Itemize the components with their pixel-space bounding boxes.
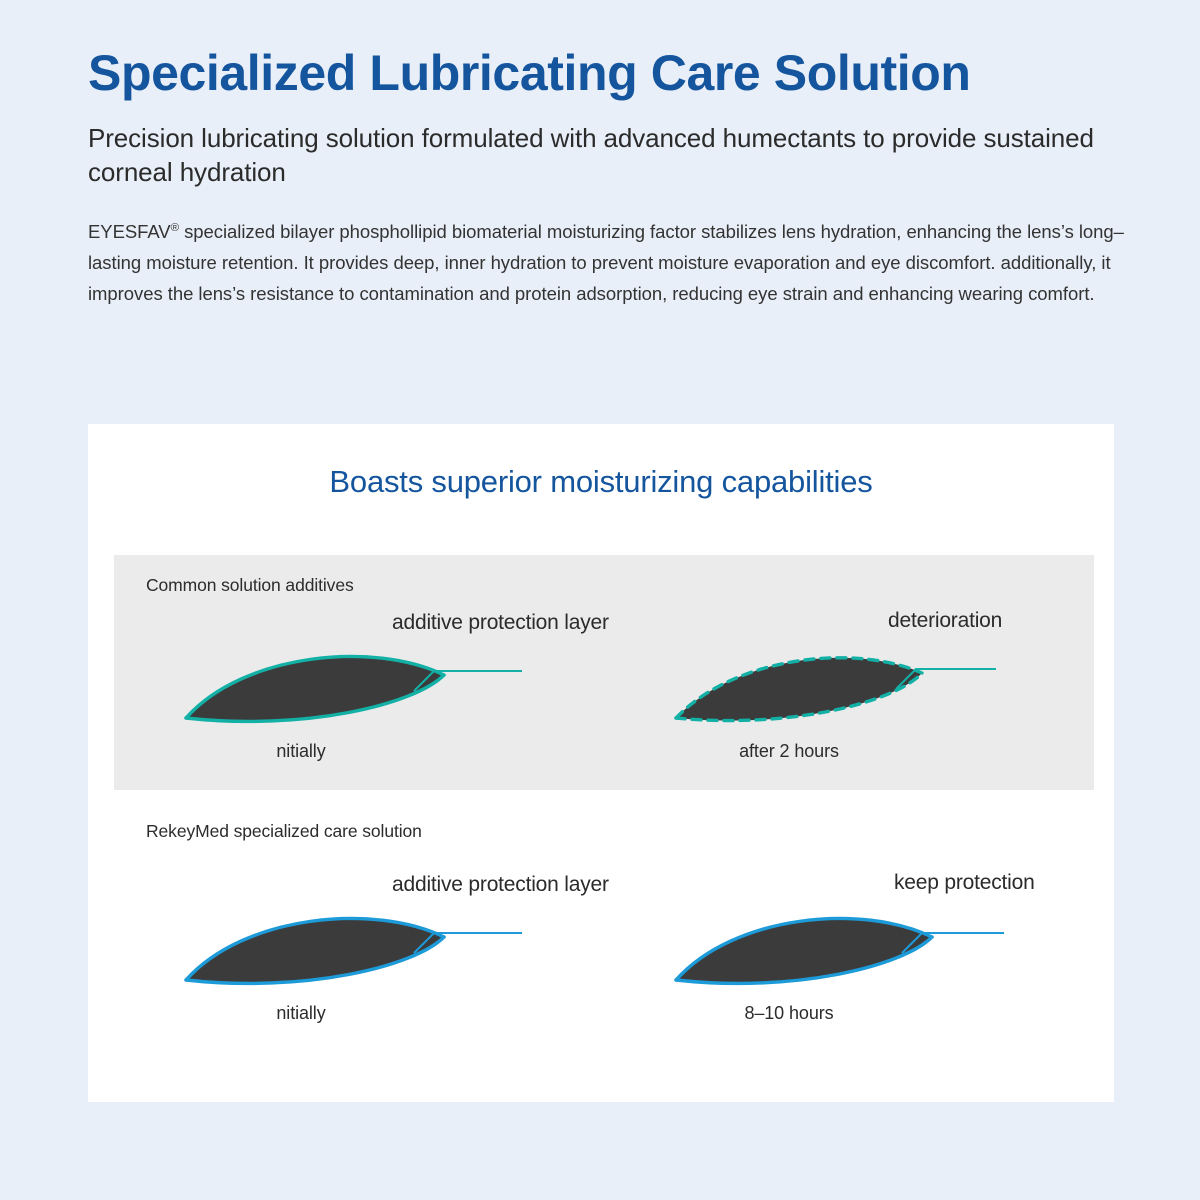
figure-caption-8-10-hours: 8–10 hours [544, 1003, 1034, 1024]
panel-label-rekeymed: RekeyMed specialized care solution [146, 821, 422, 842]
figure-rekeymed-sustained: keep protection 8–10 hours [604, 875, 1094, 1050]
figure-rekeymed-initial: additive protection layer nitially [114, 875, 604, 1050]
panel-common-additives: Common solution additives additive prote… [114, 555, 1094, 790]
figure-common-initial: additive protection layer nitially [114, 613, 604, 788]
figure-caption-initial: nitially [56, 741, 546, 762]
card-heading: Boasts superior moisturizing capabilitie… [88, 424, 1114, 500]
callout-label-keep-protection: keep protection [894, 871, 1035, 895]
panel-rekeymed-solution: RekeyMed specialized care solution addit… [114, 809, 1094, 1059]
figure-common-deteriorated: deterioration after 2 hours [604, 613, 1094, 788]
callout-label-deterioration: deterioration [888, 609, 1002, 633]
body-paragraph: EYESFAV® specialized bilayer phosphollip… [88, 216, 1128, 309]
figure-caption-after-2-hours: after 2 hours [544, 741, 1034, 762]
figure-row-rekeymed: additive protection layer nitially keep … [114, 875, 1094, 1050]
lens-diagram-common-deteriorated [604, 613, 1094, 748]
registered-trademark-icon: ® [171, 221, 179, 233]
figure-caption-initial: nitially [56, 1003, 546, 1024]
body-brand: EYESFAV [88, 221, 171, 242]
callout-label-additive-protection: additive protection layer [392, 611, 609, 635]
page-subtitle: Precision lubricating solution formulate… [88, 122, 1128, 190]
figure-row-common: additive protection layer nitially deter… [114, 613, 1094, 788]
page-title: Specialized Lubricating Care Solution [88, 46, 1128, 100]
page-header: Specialized Lubricating Care Solution Pr… [88, 46, 1128, 309]
panel-label-common: Common solution additives [146, 575, 354, 596]
comparison-card: Boasts superior moisturizing capabilitie… [88, 424, 1114, 1102]
lens-diagram-rekeymed-sustained [604, 875, 1094, 1010]
body-text: specialized bilayer phosphollipid biomat… [88, 221, 1124, 304]
callout-label-additive-protection: additive protection layer [392, 873, 609, 897]
